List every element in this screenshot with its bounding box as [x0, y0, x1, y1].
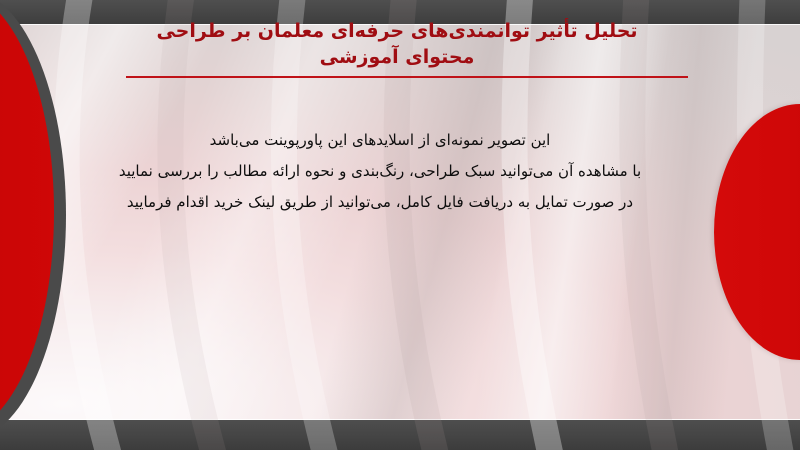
- slide-bottom-border-band: [0, 418, 800, 450]
- title-underline-rule: [126, 76, 688, 78]
- slide-body-text: این تصویر نمونه‌ای از اسلایدهای این پاور…: [80, 120, 680, 213]
- slide-content-panel: [0, 24, 800, 420]
- slide-body-line-1: این تصویر نمونه‌ای از اسلایدهای این پاور…: [80, 120, 680, 151]
- slide-title-line-1: تحلیل تأثیر توانمندی‌های حرفه‌ای معلمان …: [112, 18, 682, 44]
- slide-title-line-2: محتوای آموزشی: [112, 44, 682, 70]
- slide-title: تحلیل تأثیر توانمندی‌های حرفه‌ای معلمان …: [112, 18, 682, 70]
- presentation-slide: تحلیل تأثیر توانمندی‌های حرفه‌ای معلمان …: [0, 0, 800, 450]
- slide-body-line-2: با مشاهده آن می‌توانید سبک طراحی، رنگ‌بن…: [80, 151, 680, 182]
- slide-body-line-3: در صورت تمایل به دریافت فایل کامل، می‌تو…: [80, 182, 680, 213]
